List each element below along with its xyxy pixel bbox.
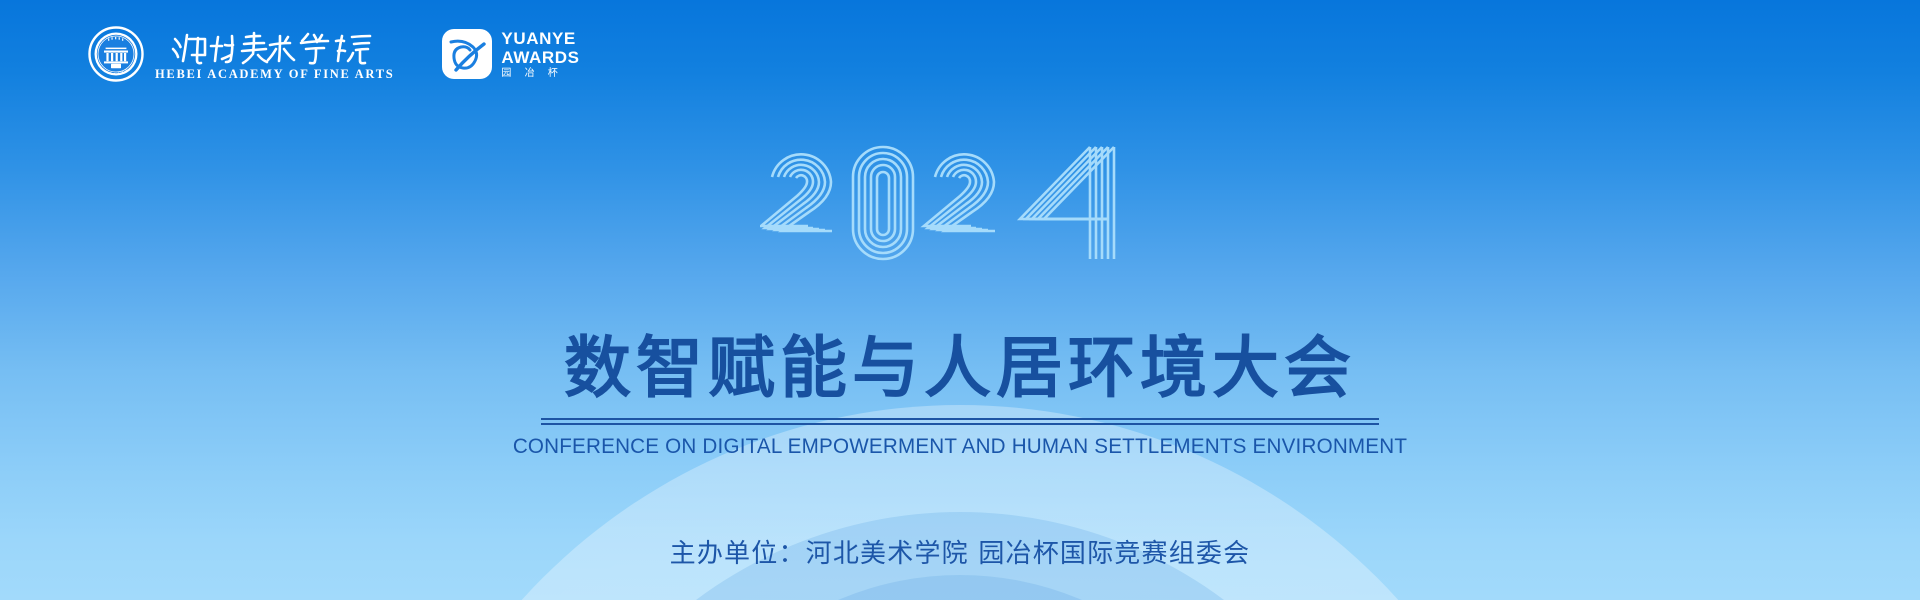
hebei-academy-name-cn [170, 27, 380, 65]
yuanye-line2: AWARDS [501, 49, 579, 66]
yuanye-wordmark: YUANYE AWARDS 园 冶 杯 [501, 30, 579, 79]
decorative-arc-inner [650, 575, 1270, 600]
conference-title-en: CONFERENCE ON DIGITAL EMPOWERMENT AND HU… [38, 434, 1881, 459]
divider-line-bottom [541, 423, 1379, 425]
title-divider [541, 418, 1379, 425]
yuanye-awards-logo[interactable]: YUANYE AWARDS 园 冶 杯 [442, 29, 579, 79]
yuanye-line1: YUANYE [501, 30, 579, 47]
divider-line-top [541, 418, 1379, 420]
year-2024-graphic [760, 133, 1160, 283]
hebei-academy-name-en: HEBEI ACADEMY OF FINE ARTS [155, 68, 394, 81]
yuanye-leaf-mark-icon [442, 29, 492, 79]
organizer-line: 主办单位：河北美术学院 园冶杯国际竞赛组委会 [0, 533, 1920, 570]
conference-banner: HEBEI ACADEMY OF FINE ARTS YUANYE AWARDS… [0, 0, 1920, 600]
yuanye-name-cn: 园 冶 杯 [501, 69, 579, 79]
hero-title-block: 数智赋能与人居环境大会 CONFERENCE ON DIGITAL EMPOWE… [0, 335, 1920, 459]
conference-title-cn: 数智赋能与人居环境大会 [0, 335, 1920, 402]
hebei-academy-wordmark: HEBEI ACADEMY OF FINE ARTS [155, 27, 394, 81]
hebei-academy-logo[interactable]: HEBEI ACADEMY OF FINE ARTS [88, 26, 394, 82]
hebei-academy-seal-icon [88, 26, 144, 82]
logo-bar: HEBEI ACADEMY OF FINE ARTS YUANYE AWARDS… [88, 26, 580, 82]
